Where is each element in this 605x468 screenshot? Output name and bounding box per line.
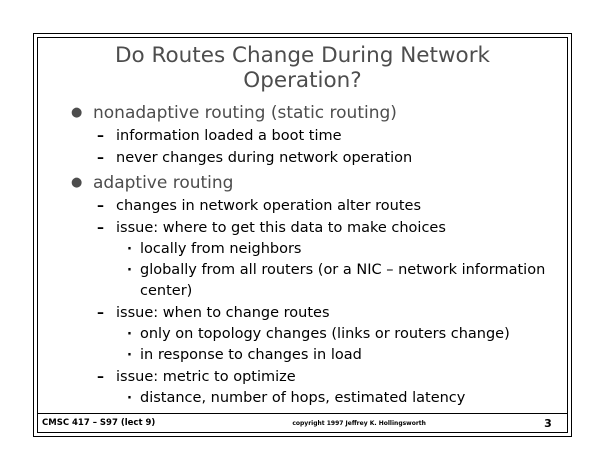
bullet-text: information loaded a boot time	[116, 125, 561, 147]
bullet-item-level2: – issue: when to change routes	[44, 302, 561, 324]
bullet-text: issue: when to change routes	[116, 302, 561, 324]
footer-copyright-label: copyright 1997 Jeffrey K. Hollingsworth	[155, 420, 533, 427]
bullet-marker-dot-icon: ·	[127, 345, 140, 366]
bullet-marker-dash-icon: –	[97, 125, 116, 147]
slide-content: Do Routes Change During Network Operatio…	[38, 38, 567, 432]
bullet-text: locally from neighbors	[140, 239, 561, 260]
bullet-item-level3: · only on topology changes (links or rou…	[44, 324, 561, 345]
bullet-item-level2: – changes in network operation alter rou…	[44, 195, 561, 217]
bullet-text: issue: metric to optimize	[116, 366, 561, 388]
slide-page-number: 3	[533, 417, 563, 430]
slide-title-line-1: Do Routes Change During Network	[66, 43, 539, 68]
bullet-marker-dot-icon: ·	[127, 239, 140, 260]
slide-title: Do Routes Change During Network Operatio…	[38, 38, 567, 93]
bullet-item-level3: · in response to changes in load	[44, 345, 561, 366]
bullet-marker-dash-icon: –	[97, 366, 116, 388]
footer-course-label: CMSC 417 – S97 (lect 9)	[42, 418, 155, 428]
bullet-marker-disc-icon: ●	[71, 171, 93, 195]
bullet-list: ● nonadaptive routing (static routing) –…	[38, 93, 567, 409]
bullet-item-level2: – issue: metric to optimize	[44, 366, 561, 388]
bullet-text: in response to changes in load	[140, 345, 561, 366]
bullet-marker-dash-icon: –	[97, 147, 116, 169]
slide-footer: CMSC 417 – S97 (lect 9) copyright 1997 J…	[38, 414, 567, 432]
bullet-marker-dash-icon: –	[97, 217, 116, 239]
bullet-item-level1: ● nonadaptive routing (static routing)	[44, 101, 561, 125]
bullet-item-level2: – information loaded a boot time	[44, 125, 561, 147]
bullet-item-level3: · globally from all routers (or a NIC – …	[44, 260, 561, 302]
bullet-text: distance, number of hops, estimated late…	[140, 388, 561, 409]
bullet-text: globally from all routers (or a NIC – ne…	[140, 260, 561, 302]
bullet-text: adaptive routing	[93, 171, 561, 195]
bullet-item-level2: – never changes during network operation	[44, 147, 561, 169]
bullet-text: nonadaptive routing (static routing)	[93, 101, 561, 125]
bullet-marker-dot-icon: ·	[127, 260, 140, 281]
bullet-text: issue: where to get this data to make ch…	[116, 217, 561, 239]
bullet-marker-dash-icon: –	[97, 195, 116, 217]
slide-canvas: Do Routes Change During Network Operatio…	[0, 0, 605, 468]
bullet-marker-dot-icon: ·	[127, 324, 140, 345]
bullet-item-level1: ● adaptive routing	[44, 171, 561, 195]
bullet-text: changes in network operation alter route…	[116, 195, 561, 217]
bullet-marker-dash-icon: –	[97, 302, 116, 324]
slide-title-line-2: Operation?	[66, 68, 539, 93]
bullet-item-level2: – issue: where to get this data to make …	[44, 217, 561, 239]
bullet-item-level3: · distance, number of hops, estimated la…	[44, 388, 561, 409]
bullet-marker-disc-icon: ●	[71, 101, 93, 125]
bullet-text: only on topology changes (links or route…	[140, 324, 561, 345]
bullet-item-level3: · locally from neighbors	[44, 239, 561, 260]
bullet-text: never changes during network operation	[116, 147, 561, 169]
bullet-marker-dot-icon: ·	[127, 388, 140, 409]
